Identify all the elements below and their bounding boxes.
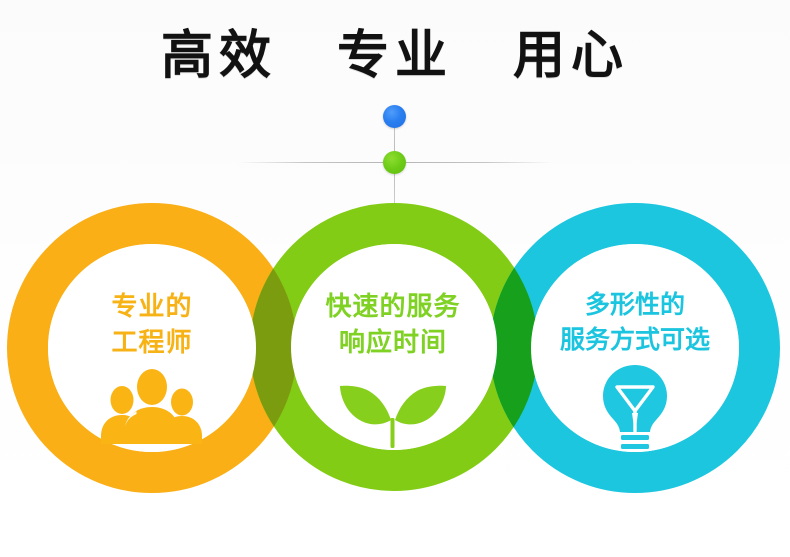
people-group-icon xyxy=(96,368,208,444)
venn-rings xyxy=(0,0,790,557)
icon-slot-green xyxy=(278,368,508,448)
icon-slot-orange xyxy=(37,368,267,448)
icon-slot-cyan xyxy=(520,363,750,443)
infographic-canvas: 高效 专业 用心 专业的 工程师 xyxy=(0,0,790,557)
lightbulb-icon xyxy=(592,363,678,455)
circle-green-line-1: 快速的服务 xyxy=(278,290,508,326)
circle-content-orange: 专业的 工程师 xyxy=(37,290,267,448)
circle-orange-line-1: 专业的 xyxy=(37,290,267,326)
sprout-leaf-icon xyxy=(334,368,452,448)
circle-cyan-line-1: 多形性的 xyxy=(520,288,750,323)
circle-content-cyan: 多形性的 服务方式可选 xyxy=(520,288,750,443)
circle-cyan-line-2: 服务方式可选 xyxy=(520,323,750,358)
circle-orange-line-2: 工程师 xyxy=(37,326,267,362)
circle-green-line-2: 响应时间 xyxy=(278,326,508,362)
circle-content-green: 快速的服务 响应时间 xyxy=(278,290,508,448)
